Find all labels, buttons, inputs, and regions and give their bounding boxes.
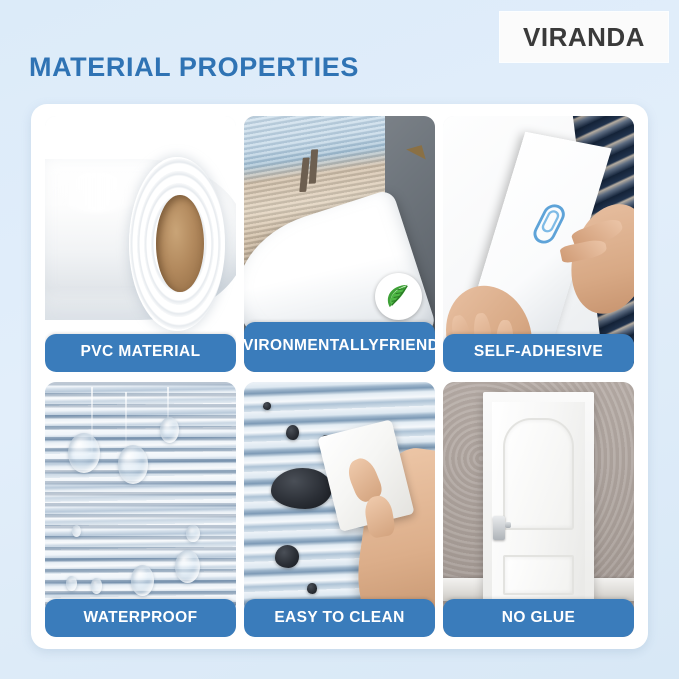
water-droplet xyxy=(131,565,154,596)
feature-panel: PVC MATERIAL xyxy=(31,104,648,649)
stain-mark xyxy=(307,583,317,593)
water-droplet xyxy=(72,525,82,538)
stain-mark xyxy=(263,402,271,410)
feature-grid: PVC MATERIAL xyxy=(45,116,634,637)
door-panel-bottom xyxy=(503,555,574,595)
brand-logo-box: VIRANDA xyxy=(500,12,668,62)
boardwalk-post xyxy=(309,149,318,184)
door-handle xyxy=(493,516,505,540)
brand-name: VIRANDA xyxy=(523,22,645,53)
card-label-line-1: ENVIRONMENTALLY xyxy=(244,338,379,355)
door-panel-top xyxy=(503,418,574,529)
leaf-icon xyxy=(383,281,414,312)
water-droplet xyxy=(160,417,179,443)
card-label-line-2: FRIENDLY xyxy=(379,338,435,355)
water-droplet xyxy=(186,525,199,543)
paperclip-icon xyxy=(525,199,573,250)
leaf-badge xyxy=(375,273,422,320)
door-frame xyxy=(483,392,594,602)
feature-card-environmentally-friendly[interactable]: ENVIRONMENTALLY FRIENDLY xyxy=(244,116,435,372)
boardwalk-post xyxy=(299,157,310,192)
feature-card-waterproof[interactable]: WATERPROOF xyxy=(45,382,236,638)
roll-cardboard-core xyxy=(156,195,204,292)
card-label-easy-to-clean: EASY TO CLEAN xyxy=(244,599,435,637)
card-label-waterproof: WATERPROOF xyxy=(45,599,236,637)
water-droplet xyxy=(118,445,149,483)
card-label-self-adhesive: SELF-ADHESIVE xyxy=(443,334,634,372)
feature-card-pvc-material[interactable]: PVC MATERIAL xyxy=(45,116,236,372)
water-droplet xyxy=(66,576,77,591)
peel-corner-tip xyxy=(406,145,426,164)
roll-highlight xyxy=(53,172,141,213)
water-droplet xyxy=(175,550,200,583)
feature-card-no-glue[interactable]: NO GLUE xyxy=(443,382,634,638)
page-title: MATERIAL PROPERTIES xyxy=(29,52,359,83)
stain-mark xyxy=(286,425,299,440)
card-label-pvc-material: PVC MATERIAL xyxy=(45,334,236,372)
stain-mark xyxy=(275,545,300,568)
water-droplet xyxy=(91,578,102,593)
card-label-environmentally-friendly: ENVIRONMENTALLY FRIENDLY xyxy=(244,322,435,372)
card-label-no-glue: NO GLUE xyxy=(443,599,634,637)
stain-mark xyxy=(271,468,332,509)
feature-card-easy-to-clean[interactable]: EASY TO CLEAN xyxy=(244,382,435,638)
feature-card-self-adhesive[interactable]: SELF-ADHESIVE xyxy=(443,116,634,372)
water-droplet xyxy=(68,433,100,474)
droplet-trail xyxy=(125,392,127,448)
door-leaf xyxy=(492,402,585,601)
